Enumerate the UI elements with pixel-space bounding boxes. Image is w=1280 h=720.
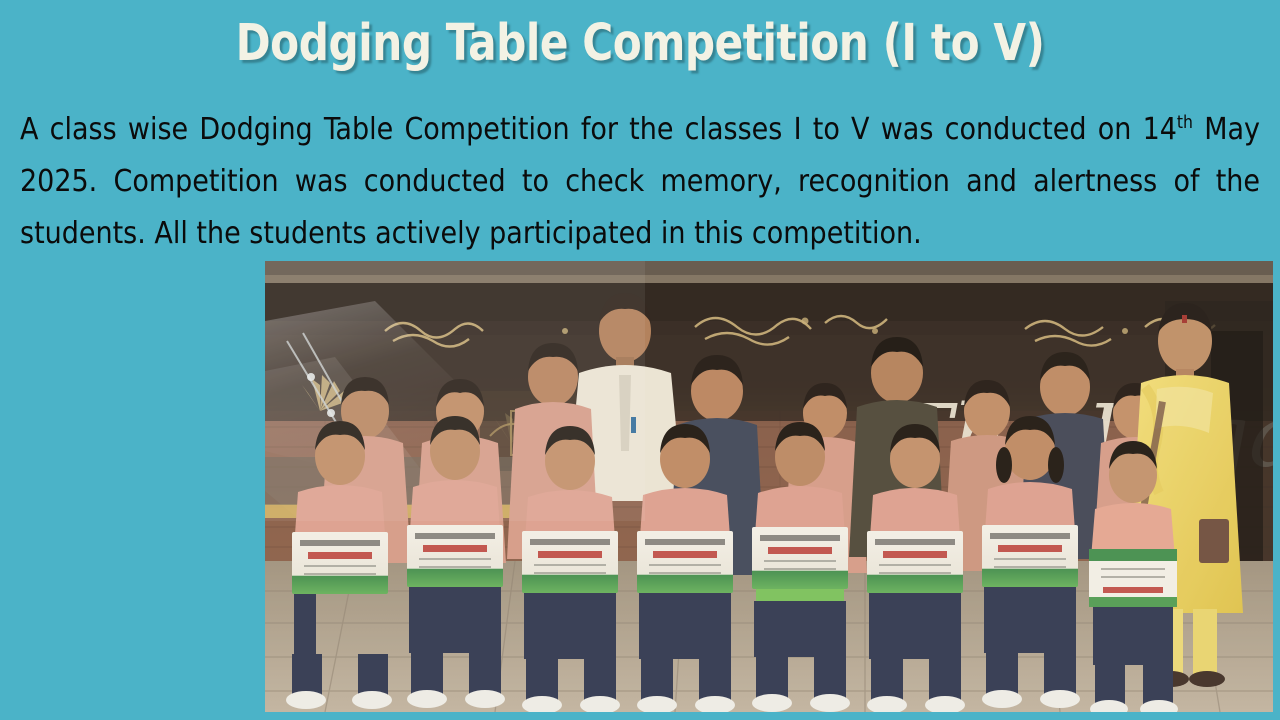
- event-photo-illustration: The Legacy: [265, 261, 1273, 712]
- page-title: Dodging Table Competition (I to V): [51, 14, 1229, 74]
- slide-root: Dodging Table Competition (I to V) A cla…: [0, 0, 1280, 720]
- date-ordinal-suffix: th: [1177, 113, 1193, 133]
- body-paragraph: A class wise Dodging Table Competition f…: [20, 104, 1260, 260]
- body-text-part1: A class wise Dodging Table Competition f…: [20, 112, 1177, 147]
- event-photo: The Legacy: [265, 261, 1273, 712]
